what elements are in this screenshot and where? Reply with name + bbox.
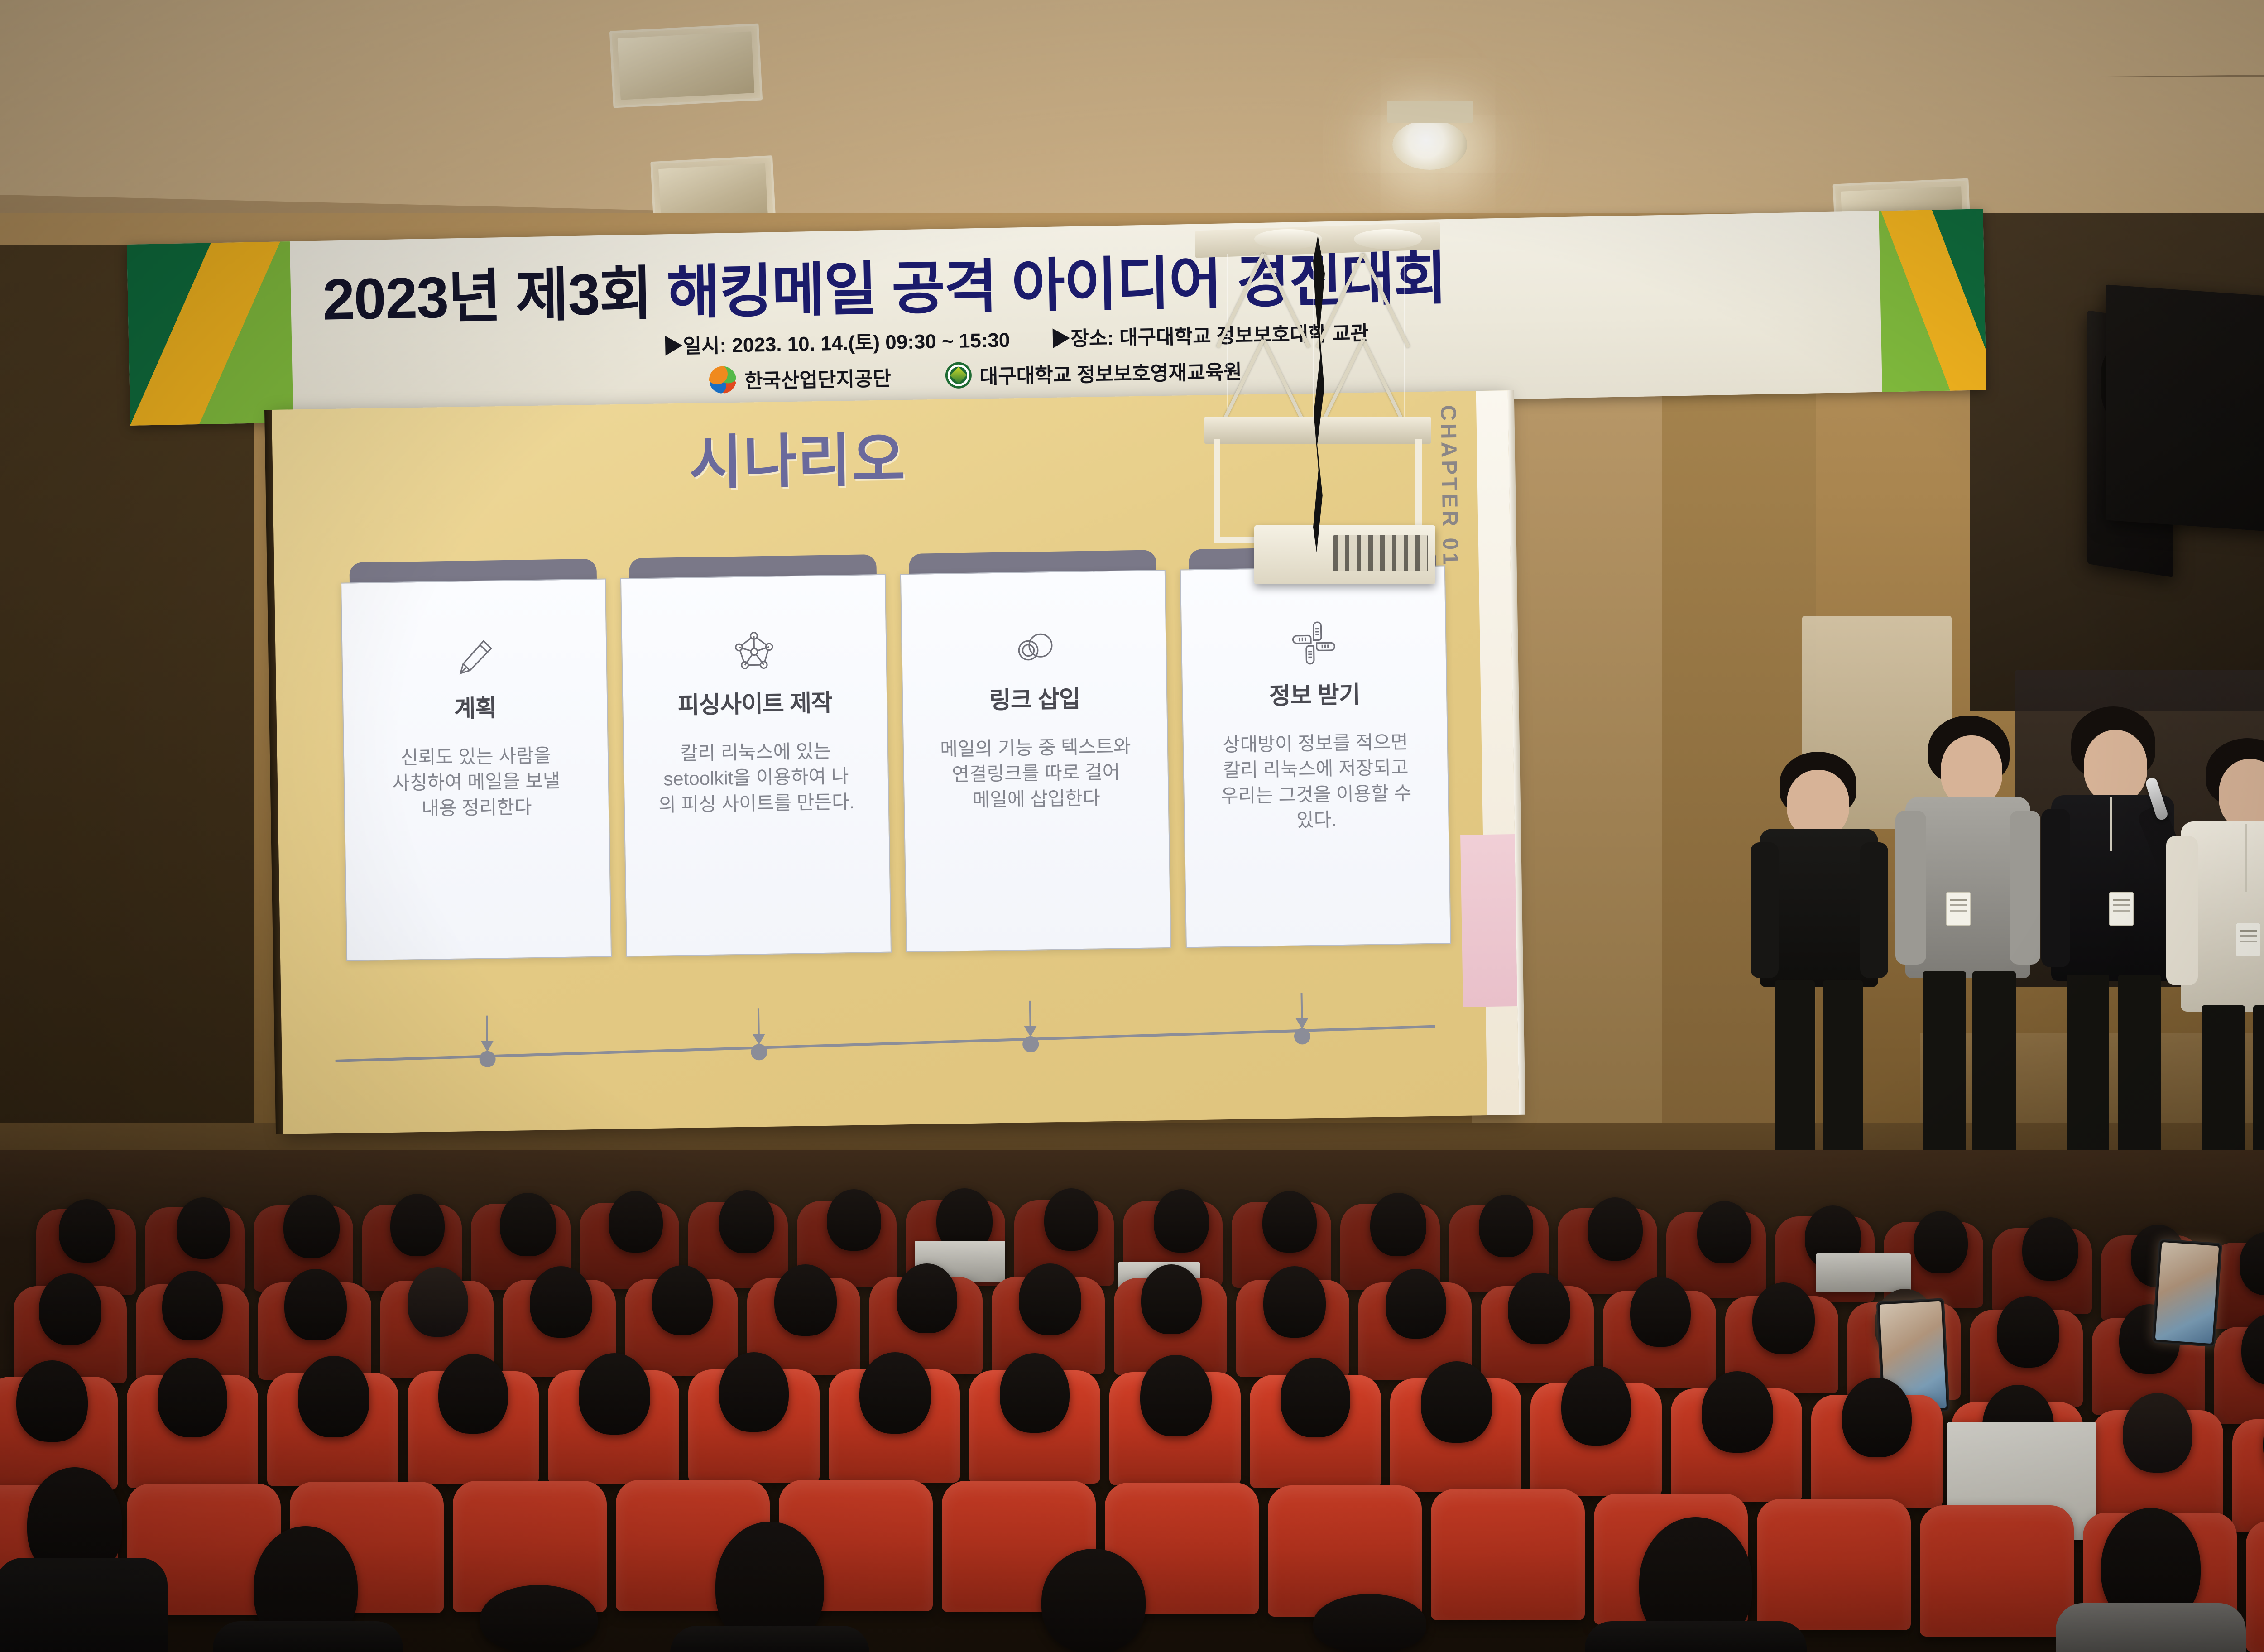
audience-head xyxy=(298,1356,369,1437)
ceiling-downlight-icon xyxy=(1392,120,1467,170)
audience-head xyxy=(1019,1263,1081,1335)
audience-head xyxy=(16,1360,88,1442)
audience-head xyxy=(859,1352,931,1434)
audience-head xyxy=(719,1190,774,1253)
audience-head xyxy=(1263,1266,1326,1338)
audience-head xyxy=(1561,1366,1631,1445)
rig-disk-icon xyxy=(1354,229,1422,249)
network-star-icon xyxy=(638,625,871,678)
card-body-text: 칼리 리눅스에 있는 setoolkit을 이용하여 나 의 피싱 사이트를 만… xyxy=(639,738,873,818)
kicox-logo-icon xyxy=(709,366,736,394)
audience-shoulders xyxy=(0,1558,168,1652)
card-body: 피싱사이트 제작 칼리 리눅스에 있는 setoolkit을 이용하여 나 의 … xyxy=(620,574,892,957)
audience-head xyxy=(827,1189,881,1251)
presenter-person xyxy=(1743,752,1893,1218)
audience-head xyxy=(390,1194,445,1256)
audience-shoulders xyxy=(670,1626,869,1652)
audience-shoulders xyxy=(213,1621,403,1652)
audience-head xyxy=(283,1195,340,1258)
daegu-university-logo-icon xyxy=(945,362,972,389)
audience-shoulders xyxy=(1585,1621,1807,1652)
card-body-text: 신뢰도 있는 사람을 사칭하여 메일을 보낼 내용 정리한다 xyxy=(360,742,594,822)
audience-head xyxy=(1914,1211,1968,1273)
banner-title-year: 2023년 제3회 xyxy=(322,261,667,332)
audience-head xyxy=(1997,1296,2059,1368)
slide-card-list: 계획 신뢰도 있는 사람을 사칭하여 메일을 보낼 내용 정리한다 xyxy=(340,545,1452,1015)
card-heading: 피싱사이트 제작 xyxy=(638,683,872,720)
projector-body xyxy=(1254,525,1435,584)
slide-card: 계획 신뢰도 있는 사람을 사칭하여 메일을 보낼 내용 정리한다 xyxy=(340,558,612,961)
card-body-text: 메일의 기능 중 텍스트와 연결링크를 따로 걸어 메일에 삽입한다 xyxy=(919,734,1153,814)
slide-title: 시나리오 xyxy=(688,413,907,500)
audience-head xyxy=(1588,1197,1643,1261)
banner-date: ▶일시: 2023. 10. 14.(토) 09:30 ~ 15:30 xyxy=(663,329,1010,358)
audience-head xyxy=(1370,1193,1426,1256)
audience-head xyxy=(1697,1201,1751,1263)
speaker-cabinet xyxy=(2106,284,2264,539)
card-body: 계획 신뢰도 있는 사람을 사칭하여 메일을 보낼 내용 정리한다 xyxy=(341,578,612,961)
audience-head-foreground xyxy=(480,1585,598,1652)
audience-head xyxy=(1262,1191,1317,1253)
audience-area: 부모석 xyxy=(0,1150,2264,1652)
organizer-kicox: 한국산업단지공단 xyxy=(709,362,891,395)
auditorium-seat xyxy=(2232,1419,2264,1532)
audience-head xyxy=(1281,1358,1350,1437)
auditorium-seat xyxy=(2246,1521,2264,1652)
organizer-kicox-label: 한국산업단지공단 xyxy=(744,362,891,394)
audience-head xyxy=(1630,1277,1691,1347)
ceiling-projector-rig xyxy=(1177,226,1458,616)
audience-head xyxy=(2022,1217,2078,1281)
slide-card: 링크 삽입 메일의 기능 중 텍스트와 연결링크를 따로 걸어 메일에 삽입한다 xyxy=(900,550,1171,952)
card-heading: 정보 받기 xyxy=(1198,674,1431,712)
audience-head xyxy=(530,1266,592,1338)
banner-title: 2023년 제3회 해킹메일 공격 아이디어 경진대회 xyxy=(321,223,1840,336)
audience-head xyxy=(609,1191,663,1253)
banner-organizers: 한국산업단지공단 대구대학교 정보보호영재교육원 xyxy=(709,355,1242,395)
card-body: 정보 받기 상대방이 정보를 적으면 칼리 리눅스에 저장되고 우리는 그것을 … xyxy=(1180,565,1451,948)
auditorium-seat xyxy=(1920,1505,2074,1637)
audience-head-foreground xyxy=(1041,1549,1146,1652)
audience-head xyxy=(774,1264,837,1336)
banner-stripe-right xyxy=(1879,209,1986,392)
audience-head xyxy=(1154,1189,1209,1253)
projector-ports-icon xyxy=(1333,535,1428,571)
audience-head xyxy=(1508,1273,1570,1344)
audience-head xyxy=(158,1358,227,1437)
name-badge xyxy=(1946,892,1971,926)
audience-shoulders xyxy=(2056,1603,2246,1652)
audience-head-foreground xyxy=(1313,1594,1426,1652)
audience-head xyxy=(1386,1269,1446,1339)
audience-head xyxy=(39,1273,101,1345)
audience-head xyxy=(1752,1282,1815,1354)
presenter-person xyxy=(1893,716,2042,1218)
card-body-text: 상대방이 정보를 적으면 칼리 리눅스에 저장되고 우리는 그것을 이용할 수 … xyxy=(1199,729,1433,835)
audience-head xyxy=(1479,1195,1533,1257)
linked-circles-icon xyxy=(917,621,1151,674)
audience-head xyxy=(284,1269,347,1340)
rig-disk-icon xyxy=(1254,229,1322,249)
audience-head xyxy=(579,1353,650,1435)
presenter-person xyxy=(2038,706,2187,1218)
audience-head xyxy=(1702,1371,1773,1453)
card-heading: 계획 xyxy=(359,687,592,725)
recessed-light-fixture-icon xyxy=(609,23,763,108)
audience-head xyxy=(1842,1378,1912,1457)
audience-head xyxy=(500,1193,556,1256)
audience-head xyxy=(2123,1393,2192,1473)
pencil-icon xyxy=(358,629,591,683)
audience-head xyxy=(1140,1355,1212,1436)
audience-head xyxy=(897,1263,957,1333)
banner-stripe-left xyxy=(127,241,293,426)
audience-head xyxy=(1421,1361,1492,1443)
audience-head xyxy=(1044,1188,1098,1251)
screen-accent-band xyxy=(1460,834,1517,1007)
audience-head xyxy=(59,1199,115,1263)
auditorium-seat xyxy=(1757,1499,1911,1630)
four-hands-icon xyxy=(1197,616,1431,670)
audience-head xyxy=(162,1271,223,1340)
phone-screen xyxy=(2155,1242,2219,1344)
card-heading: 링크 삽입 xyxy=(918,679,1151,716)
smartphone-recording xyxy=(2152,1239,2222,1347)
audience-head xyxy=(1141,1264,1202,1334)
audience-head xyxy=(177,1197,230,1259)
timeline-node xyxy=(740,1008,777,1072)
audience-head xyxy=(1000,1353,1070,1433)
laptop xyxy=(1816,1253,1911,1292)
audience-head xyxy=(652,1265,713,1335)
slide-card: 피싱사이트 제작 칼리 리눅스에 있는 setoolkit을 이용하여 나 의 … xyxy=(620,554,892,957)
audience-head xyxy=(408,1267,468,1337)
audience-head xyxy=(719,1352,789,1432)
rig-wire xyxy=(1227,254,1228,421)
event-banner: 2023년 제3회 해킹메일 공격 아이디어 경진대회 ▶일시: 2023. 1… xyxy=(127,209,1986,426)
timeline-node xyxy=(1012,1000,1049,1064)
timeline-node xyxy=(1284,993,1321,1057)
name-badge xyxy=(2109,892,2134,926)
auditorium-photo: 2023년 제3회 해킹메일 공격 아이디어 경진대회 ▶일시: 2023. 1… xyxy=(0,0,2264,1652)
card-body: 링크 삽입 메일의 기능 중 텍스트와 연결링크를 따로 걸어 메일에 삽입한다 xyxy=(900,570,1171,952)
timeline-node xyxy=(469,1015,506,1079)
audience-head xyxy=(438,1354,508,1434)
name-badge xyxy=(2236,923,2260,956)
auditorium-seat xyxy=(1431,1489,1585,1620)
